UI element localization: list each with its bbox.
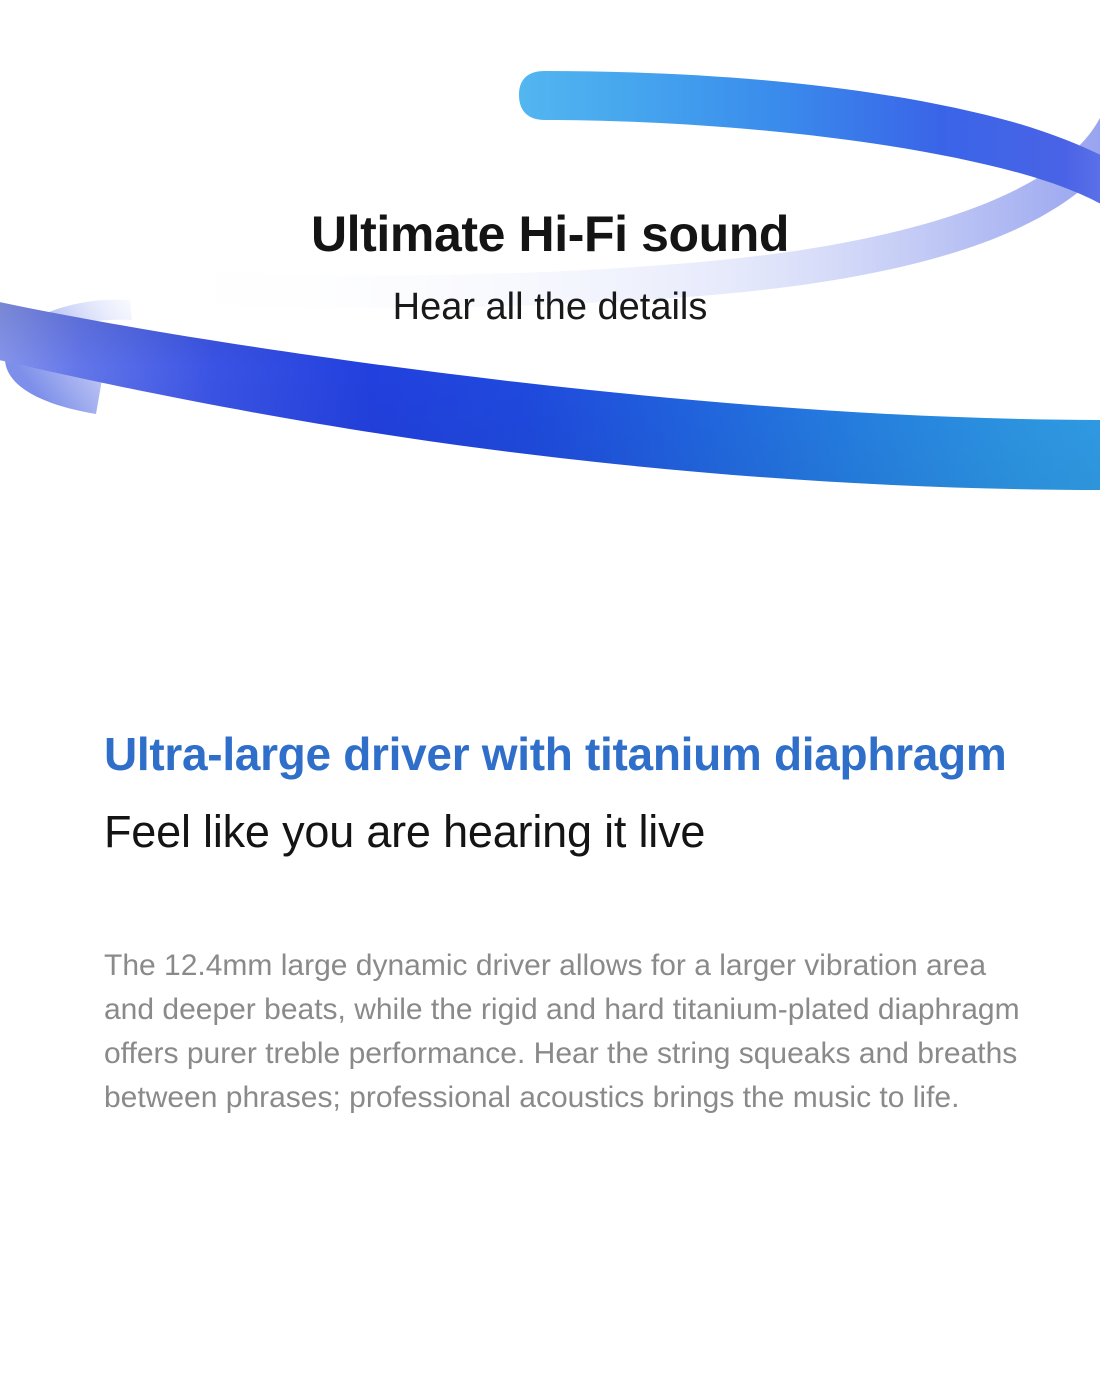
hero-subtitle: Hear all the details	[0, 282, 1100, 332]
hero-title: Ultimate Hi-Fi sound	[0, 204, 1100, 264]
feature-section: Ultra-large driver with titanium diaphra…	[104, 718, 1044, 1120]
hero-section: Ultimate Hi-Fi sound Hear all the detail…	[0, 0, 1100, 530]
feature-heading: Ultra-large driver with titanium diaphra…	[104, 718, 1014, 790]
feature-subheading: Feel like you are hearing it live	[104, 804, 1044, 860]
product-feature-page: Ultimate Hi-Fi sound Hear all the detail…	[0, 0, 1100, 1378]
feature-body-text: The 12.4mm large dynamic driver allows f…	[104, 944, 1034, 1120]
blue-swoosh-ribbon-icon	[0, 0, 1100, 530]
